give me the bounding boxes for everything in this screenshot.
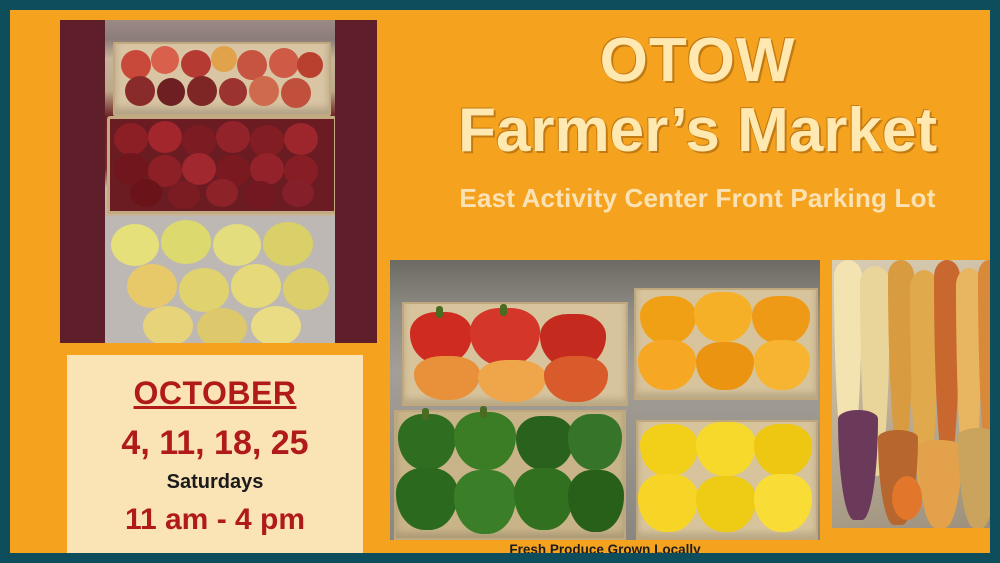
photo-carrots — [832, 260, 997, 528]
schedule-days: 4, 11, 18, 25 — [67, 424, 363, 463]
schedule-panel: OCTOBER 4, 11, 18, 25 Saturdays 11 am - … — [67, 355, 363, 556]
photo-fruit-crates — [60, 20, 377, 343]
crate-plums — [107, 116, 335, 214]
page-title-otow: OTOW — [400, 28, 995, 93]
tray-apples — [105, 216, 335, 343]
box-green-peppers — [394, 410, 626, 540]
box-red-peppers — [402, 302, 628, 406]
produce-caption: Fresh Produce Grown Locally — [390, 542, 820, 557]
box-orange-peppers — [634, 288, 818, 400]
schedule-hours: 11 am - 4 pm — [67, 503, 363, 537]
crate-peaches — [113, 42, 331, 116]
fruit-photo-content — [105, 20, 335, 343]
schedule-weekday: Saturdays — [67, 471, 363, 494]
photo-bell-peppers — [390, 260, 820, 540]
page-subtitle: East Activity Center Front Parking Lot — [400, 183, 995, 214]
poster-canvas: OTOW Farmer’s Market East Activity Cente… — [0, 0, 1000, 563]
box-yellow-peppers — [636, 420, 818, 540]
schedule-month: OCTOBER — [67, 375, 363, 412]
page-title-market: Farmer’s Market — [400, 97, 995, 165]
title-block: OTOW Farmer’s Market East Activity Cente… — [400, 22, 995, 214]
